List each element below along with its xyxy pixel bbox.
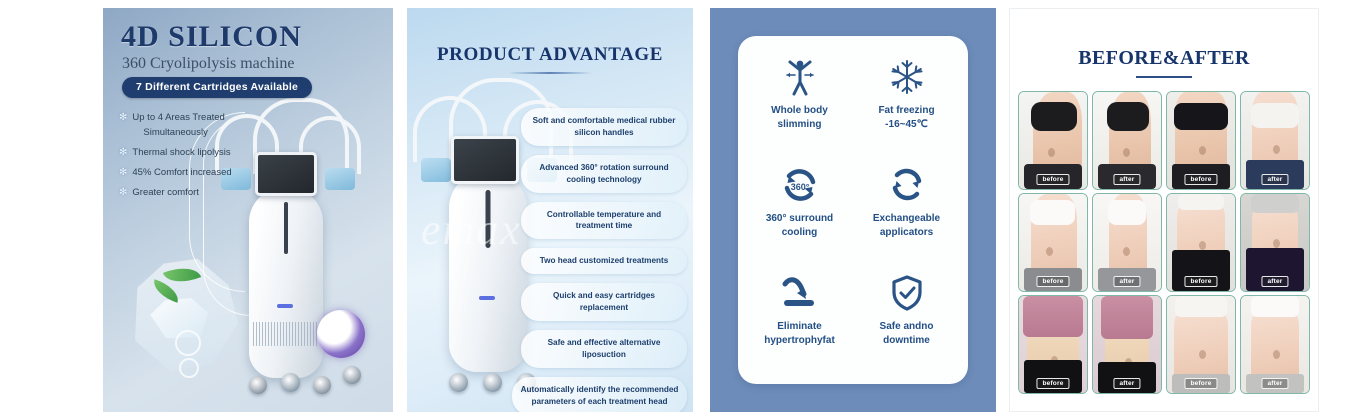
features-card: Whole body slimming Fat freezing -16~45℃: [738, 36, 968, 384]
snowflake-icon: [889, 56, 925, 98]
after-tag: after: [1113, 276, 1140, 287]
after-tag: after: [1261, 174, 1288, 185]
machine-cartridge: [421, 158, 451, 182]
list-item-label: Up to 4 Areas Treated: [132, 112, 224, 123]
machine-wheel: [483, 373, 502, 392]
before-after-panel: BEFORE&AFTER before: [1009, 8, 1319, 412]
before-tag: before: [1036, 276, 1069, 287]
title-underline: [508, 72, 592, 74]
hero-subtitle: 360 Cryolipolysis machine: [122, 55, 294, 73]
before-tag: before: [1036, 174, 1069, 185]
machine-vent: [253, 322, 319, 346]
machine-touchscreen: [451, 136, 519, 184]
feature-whole-body-slimming: Whole body slimming: [746, 50, 853, 158]
before-after-cell: before: [1018, 91, 1088, 190]
feature-label: Fat freezing -16~45℃: [878, 104, 934, 131]
title-underline: [1136, 76, 1192, 78]
advantage-panel: emax PRODUCT ADVANTAGE Soft and comforta…: [407, 8, 693, 412]
machine-body: [249, 188, 323, 378]
before-after-cell: after: [1092, 91, 1162, 190]
feature-label: Safe andno downtime: [880, 320, 934, 347]
before-tag: before: [1036, 378, 1069, 389]
after-tag: after: [1261, 378, 1288, 389]
feature-label: Whole body slimming: [771, 104, 828, 131]
advantage-item: Safe and effective alternative liposucti…: [521, 330, 687, 368]
exchange-arrows-icon: [888, 164, 926, 206]
water-ring-decoration: [175, 330, 201, 356]
feature-label: 360° surround cooling: [766, 212, 833, 239]
list-item-label: 45% Comfort increased: [132, 167, 231, 178]
machine-indicator-light: [479, 296, 495, 300]
before-after-cell: after: [1092, 295, 1162, 394]
before-after-cell: before: [1166, 295, 1236, 394]
before-after-cell: before: [1018, 295, 1088, 394]
advantage-item: Controllable temperature and treatment t…: [521, 202, 687, 240]
machine-applicator-ring: [317, 310, 365, 358]
svg-text:360°: 360°: [790, 182, 809, 192]
advantage-item: Automatically identify the recommended p…: [512, 377, 687, 412]
list-item: ✻ Greater comfort: [119, 187, 294, 199]
before-after-cell: after: [1240, 193, 1310, 292]
feature-fat-freezing: Fat freezing -16~45℃: [853, 50, 960, 158]
fat-reduction-arrow-icon: [780, 272, 820, 314]
machine-indicator-light: [277, 304, 293, 308]
machine-wheel: [449, 373, 468, 392]
feature-exchangeable-applicators: Exchangeable applicators: [853, 158, 960, 266]
cartridges-badge: 7 Different Cartridges Available: [122, 77, 312, 98]
advantage-item: Two head customized treatments: [521, 248, 687, 274]
machine-cartridge: [325, 168, 355, 190]
rotation-360-icon: 360°: [780, 164, 820, 206]
features-panel: Whole body slimming Fat freezing -16~45℃: [710, 8, 996, 412]
feature-360-surround-cooling: 360° 360° surround cooling: [746, 158, 853, 266]
before-after-grid: before after: [1018, 91, 1310, 394]
list-item-label: Thermal shock lipolysis: [132, 147, 230, 158]
machine-body: [449, 172, 527, 372]
before-tag: before: [1184, 174, 1217, 185]
person-arms-up-icon: [783, 56, 817, 98]
list-item-label: Greater comfort: [132, 187, 199, 198]
list-item-label-2: Simultaneously: [143, 127, 224, 139]
advantage-item: Quick and easy cartridges replacement: [521, 283, 687, 321]
hero-panel: 4D SILICON 360 Cryolipolysis machine 7 D…: [103, 8, 393, 412]
feature-label: Exchangeable applicators: [873, 212, 940, 239]
list-item: ✻ Thermal shock lipolysis: [119, 147, 294, 159]
feature-eliminate-hypertrophy-fat: Eliminate hypertrophyfat: [746, 266, 853, 374]
before-after-cell: before: [1166, 193, 1236, 292]
after-tag: after: [1113, 174, 1140, 185]
after-tag: after: [1113, 378, 1140, 389]
advantage-title: PRODUCT ADVANTAGE: [407, 44, 693, 66]
after-tag: after: [1261, 276, 1288, 287]
hero-feature-list: ✻ Up to 4 Areas TreatedSimultaneously ✻ …: [119, 112, 294, 207]
machine-wheel: [313, 376, 331, 394]
advantage-item: Advanced 360° rotation surround cooling …: [521, 155, 687, 193]
before-tag: before: [1184, 276, 1217, 287]
before-after-cell: after: [1240, 91, 1310, 190]
before-after-cell: after: [1092, 193, 1162, 292]
machine-wheel: [343, 366, 361, 384]
snowflake-icon: ✻: [119, 167, 127, 179]
advantage-item: Soft and comfortable medical rubber sili…: [521, 108, 687, 146]
water-ring-decoration: [179, 358, 199, 378]
product-image-strip: 4D SILICON 360 Cryolipolysis machine 7 D…: [0, 0, 1358, 420]
machine-wheel: [249, 376, 267, 394]
shield-check-icon: [891, 272, 923, 314]
snowflake-icon: ✻: [119, 112, 127, 124]
feature-label: Eliminate hypertrophyfat: [764, 320, 835, 347]
advantage-list: Soft and comfortable medical rubber sili…: [521, 108, 687, 412]
before-tag: before: [1184, 378, 1217, 389]
hero-title: 4D SILICON: [121, 20, 302, 54]
snowflake-icon: ✻: [119, 147, 127, 159]
feature-safe-no-downtime: Safe andno downtime: [853, 266, 960, 374]
machine-wheel: [281, 373, 300, 392]
snowflake-icon: ✻: [119, 187, 127, 199]
list-item: ✻ Up to 4 Areas TreatedSimultaneously: [119, 112, 294, 139]
before-after-cell: before: [1018, 193, 1088, 292]
before-after-cell: before: [1166, 91, 1236, 190]
before-after-title: BEFORE&AFTER: [1010, 47, 1318, 70]
before-after-cell: after: [1240, 295, 1310, 394]
list-item: ✻ 45% Comfort increased: [119, 167, 294, 179]
